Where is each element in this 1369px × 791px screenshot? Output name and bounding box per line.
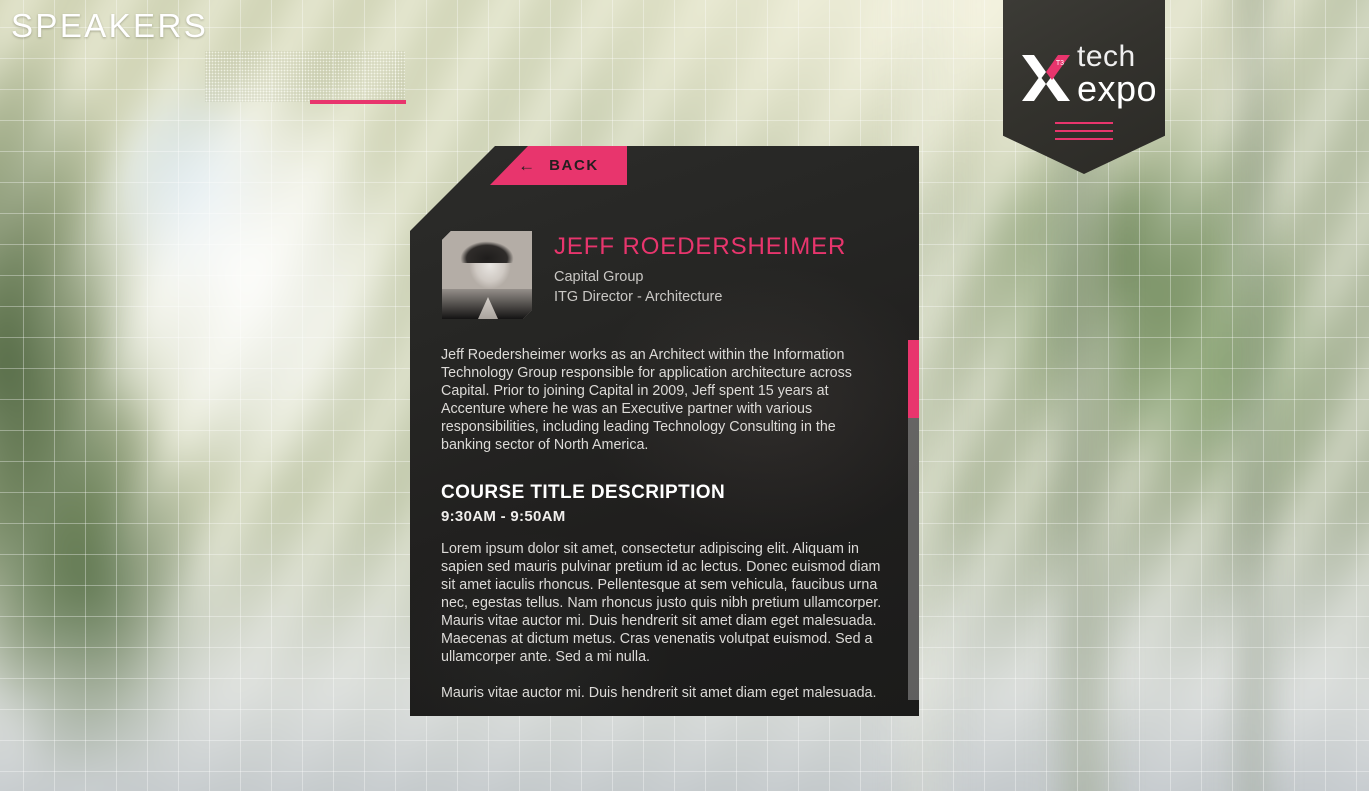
speaker-body: Jeff Roedersheimer works as an Architect…	[441, 346, 884, 702]
menu-line-1	[1055, 122, 1113, 124]
course-paragraph-2: Mauris vitae auctor mi. Duis hendrerit s…	[441, 684, 884, 702]
svg-text:T3: T3	[1056, 60, 1064, 67]
speaker-meta: JEFF ROEDERSHEIMER Capital Group ITG Dir…	[554, 231, 846, 319]
logo-text-expo: expo	[1077, 71, 1157, 106]
course-paragraph-1: Lorem ipsum dolor sit amet, consectetur …	[441, 540, 884, 666]
arrow-left-icon: ←	[518, 157, 535, 174]
menu-line-3	[1055, 138, 1113, 140]
speaker-bio: Jeff Roedersheimer works as an Architect…	[441, 346, 884, 454]
page-title-underline	[310, 100, 406, 104]
back-button-label: BACK	[549, 157, 599, 174]
menu-line-2	[1055, 130, 1113, 132]
page-title-plate	[205, 51, 405, 102]
speaker-avatar	[442, 231, 532, 319]
course-title: COURSE TITLE DESCRIPTION	[441, 482, 884, 504]
halftone-pattern	[205, 51, 405, 102]
page-title: SPEAKERS	[11, 4, 208, 48]
panel-scrollbar-thumb[interactable]	[908, 340, 919, 418]
course-time: 9:30AM - 9:50AM	[441, 508, 884, 525]
hamburger-menu-icon[interactable]	[1055, 122, 1113, 142]
logo-wordmark: tech expo	[1077, 42, 1157, 106]
panel-scrollbar-track[interactable]	[908, 340, 919, 700]
tech-expo-x-logo-icon: T3	[1020, 53, 1072, 103]
speaker-header: JEFF ROEDERSHEIMER Capital Group ITG Dir…	[442, 231, 846, 319]
speaker-role: ITG Director - Architecture	[554, 287, 846, 307]
app-stage: SPEAKERS T3 tech expo	[0, 0, 1369, 791]
speaker-company: Capital Group	[554, 267, 846, 287]
speaker-detail-panel: JEFF ROEDERSHEIMER Capital Group ITG Dir…	[410, 146, 919, 716]
logo-text-tech: tech	[1077, 42, 1157, 71]
speaker-name: JEFF ROEDERSHEIMER	[554, 233, 846, 261]
avatar-detail-hair	[456, 233, 518, 263]
